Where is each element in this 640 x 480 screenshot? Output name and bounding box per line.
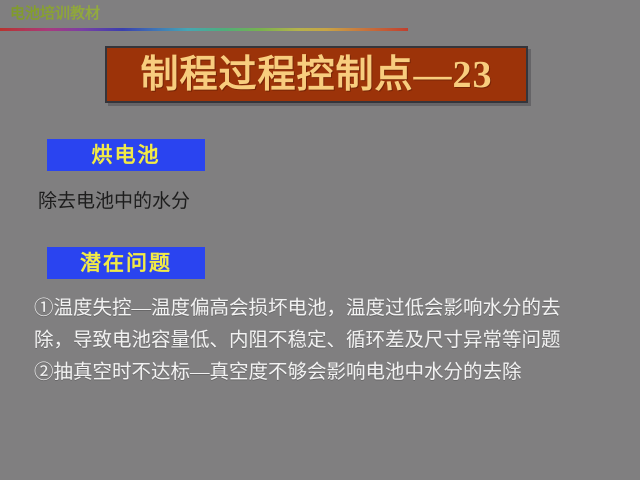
slide-header: 电池培训教材 — [0, 0, 640, 36]
slide-title-banner: 制程过程控制点—23 — [105, 46, 528, 103]
issue-line: 除，导致电池容量低、内阻不稳定、循环差及尺寸异常等问题 — [34, 325, 630, 357]
section-badge-potential-issues: 潜在问题 — [47, 247, 205, 279]
header-gradient-rule — [0, 28, 408, 31]
potential-issues-body: ①温度失控—温度偏高会损坏电池，温度过低会影响水分的去 除，导致电池容量低、内阻… — [34, 293, 630, 389]
section-badge-bake-battery: 烘电池 — [47, 139, 205, 171]
slide-title: 制程过程控制点—23 — [140, 54, 492, 96]
slide-canvas: 电池培训教材 制程过程控制点—23 烘电池 除去电池中的水分 潜在问题 ①温度失… — [0, 0, 640, 480]
section-badge-label: 潜在问题 — [80, 251, 172, 275]
issue-line: ①温度失控—温度偏高会损坏电池，温度过低会影响水分的去 — [34, 293, 630, 325]
bake-battery-description: 除去电池中的水分 — [38, 189, 618, 215]
issue-line: ②抽真空时不达标—真空度不够会影响电池中水分的去除 — [34, 357, 630, 389]
section-badge-label: 烘电池 — [92, 143, 161, 167]
course-title: 电池培训教材 — [10, 5, 100, 23]
